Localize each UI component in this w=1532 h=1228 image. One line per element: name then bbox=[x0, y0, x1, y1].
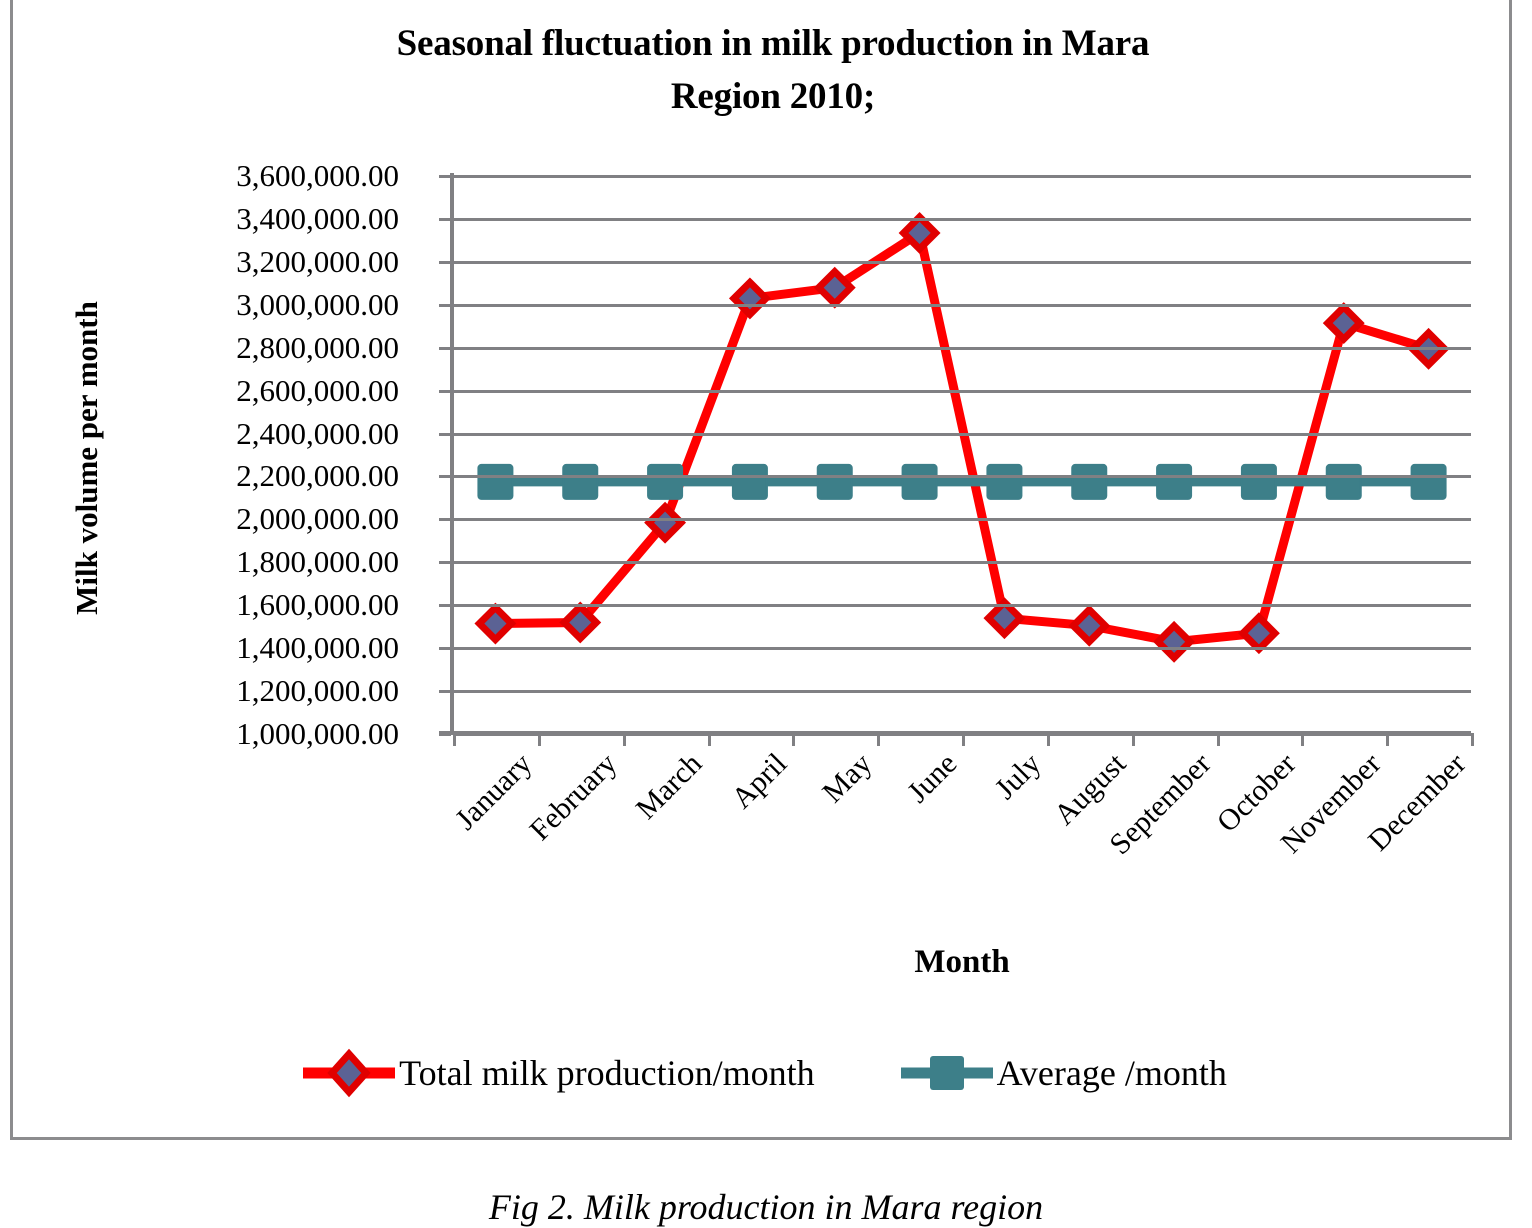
data-point-marker bbox=[563, 465, 597, 499]
x-axis-tick-label: March bbox=[544, 747, 709, 912]
legend-square-marker-icon bbox=[899, 1046, 995, 1100]
x-axis-title: Month bbox=[453, 944, 1471, 981]
y-axis-tick-mark bbox=[439, 604, 451, 607]
y-axis-title: Milk volume per month bbox=[69, 198, 105, 718]
data-point-marker bbox=[1072, 465, 1106, 499]
y-axis-tick-mark bbox=[439, 347, 451, 350]
y-axis-tick-mark bbox=[439, 733, 451, 736]
gridline bbox=[453, 647, 1471, 650]
data-point-marker bbox=[1157, 465, 1191, 499]
x-axis-tick-label: September bbox=[1053, 747, 1218, 912]
y-axis-tick-labels: 3,600,000.003,400,000.003,200,000.003,00… bbox=[131, 160, 399, 738]
gridline bbox=[453, 390, 1471, 393]
data-point-marker bbox=[479, 608, 511, 640]
y-axis-tick-label: 3,400,000.00 bbox=[131, 203, 399, 234]
y-axis-tick-mark bbox=[439, 433, 451, 436]
gridline bbox=[453, 304, 1471, 307]
gridline bbox=[453, 561, 1471, 564]
x-axis-tick-label: August bbox=[968, 747, 1133, 912]
y-axis-tick-label: 1,800,000.00 bbox=[131, 546, 399, 577]
gridline bbox=[453, 604, 1471, 607]
legend-label: Average /month bbox=[997, 1052, 1227, 1094]
data-point-marker bbox=[733, 465, 767, 499]
y-axis-tick-mark bbox=[439, 218, 451, 221]
x-axis-tick-label: April bbox=[628, 747, 793, 912]
x-axis-tick-label: June bbox=[798, 747, 963, 912]
y-axis-tick-label: 3,200,000.00 bbox=[131, 246, 399, 277]
chart-frame: Seasonal fluctuation in milk production … bbox=[10, 0, 1512, 1140]
gridline bbox=[453, 475, 1471, 478]
plot-area bbox=[453, 175, 1471, 733]
y-axis-tick-mark bbox=[439, 390, 451, 393]
data-point-marker bbox=[903, 465, 937, 499]
x-axis-tick-mark bbox=[1471, 733, 1474, 746]
y-axis-tick-label: 2,000,000.00 bbox=[131, 503, 399, 534]
y-axis-tick-label: 2,800,000.00 bbox=[131, 332, 399, 363]
legend-diamond-marker-icon bbox=[301, 1046, 397, 1100]
y-axis-tick-label: 2,400,000.00 bbox=[131, 418, 399, 449]
y-axis-tick-mark bbox=[439, 518, 451, 521]
x-axis-tick-label: October bbox=[1137, 747, 1302, 912]
legend-label: Total milk production/month bbox=[399, 1052, 814, 1094]
data-point-marker bbox=[1243, 617, 1275, 649]
chart-title-line-1: Seasonal fluctuation in milk production … bbox=[397, 23, 1150, 64]
gridline bbox=[453, 347, 1471, 350]
data-point-marker bbox=[1327, 465, 1361, 499]
gridline bbox=[453, 175, 1471, 178]
data-point-marker bbox=[1328, 307, 1360, 339]
gridline bbox=[453, 690, 1471, 693]
y-axis-tick-label: 1,400,000.00 bbox=[131, 632, 399, 663]
data-point-marker bbox=[818, 465, 852, 499]
chart-legend: Total milk production/monthAverage /mont… bbox=[13, 1046, 1515, 1100]
y-axis-tick-label: 2,600,000.00 bbox=[131, 375, 399, 406]
y-axis-tick-mark bbox=[439, 690, 451, 693]
y-axis-tick-label: 2,200,000.00 bbox=[131, 460, 399, 491]
gridline bbox=[453, 433, 1471, 436]
gridline bbox=[453, 261, 1471, 264]
x-axis-tick-labels: JanuaryFebruaryMarchAprilMayJuneJulyAugu… bbox=[453, 733, 1471, 933]
x-axis-tick-label: November bbox=[1222, 747, 1387, 912]
series-line-1 bbox=[495, 233, 1428, 642]
data-point-marker bbox=[478, 465, 512, 499]
chart-title: Seasonal fluctuation in milk production … bbox=[163, 18, 1383, 123]
legend-entry-1[interactable]: Total milk production/month bbox=[301, 1046, 814, 1100]
legend-entry-2[interactable]: Average /month bbox=[899, 1046, 1227, 1100]
x-axis-tick-label: February bbox=[459, 747, 624, 912]
data-point-marker bbox=[1158, 626, 1190, 658]
y-axis-tick-mark bbox=[439, 261, 451, 264]
gridline bbox=[453, 518, 1471, 521]
data-point-marker bbox=[1242, 465, 1276, 499]
x-axis-tick-label: July bbox=[883, 747, 1048, 912]
gridline bbox=[453, 218, 1471, 221]
y-axis-tick-label: 1,200,000.00 bbox=[131, 675, 399, 706]
y-axis-tick-label: 1,000,000.00 bbox=[131, 718, 399, 749]
y-axis-tick-label: 3,600,000.00 bbox=[131, 160, 399, 191]
y-axis-tick-label: 3,000,000.00 bbox=[131, 289, 399, 320]
data-point-marker bbox=[987, 465, 1021, 499]
data-point-marker bbox=[734, 282, 766, 314]
y-axis-tick-mark bbox=[439, 647, 451, 650]
x-axis-tick-label: December bbox=[1307, 747, 1472, 912]
y-axis-tick-label: 1,600,000.00 bbox=[131, 589, 399, 620]
x-axis-tick-label: January bbox=[374, 747, 539, 912]
figure-caption: Fig 2. Milk production in Mara region bbox=[0, 1186, 1532, 1228]
chart-title-line-2: Region 2010; bbox=[671, 76, 875, 117]
y-axis-tick-mark bbox=[439, 561, 451, 564]
data-point-marker bbox=[1073, 610, 1105, 642]
y-axis-tick-mark bbox=[439, 304, 451, 307]
x-axis-tick-label: May bbox=[713, 747, 878, 912]
y-axis-tick-mark bbox=[439, 475, 451, 478]
data-point-marker bbox=[648, 465, 682, 499]
data-point-marker bbox=[1412, 465, 1446, 499]
y-axis-tick-mark bbox=[439, 175, 451, 178]
